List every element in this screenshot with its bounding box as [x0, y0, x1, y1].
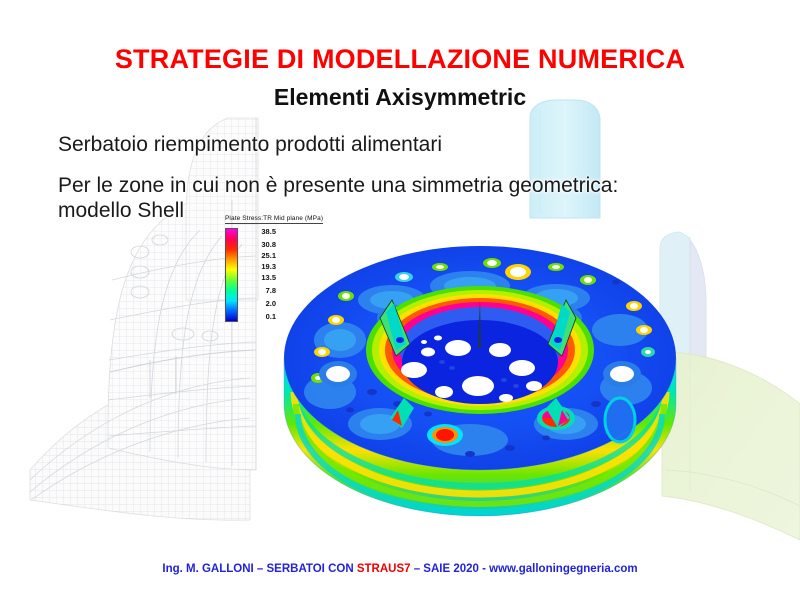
legend-tick: 0.1	[242, 313, 276, 321]
page-title: STRATEGIE DI MODELLAZIONE NUMERICA	[0, 44, 800, 75]
slide-canvas: STRATEGIE DI MODELLAZIONE NUMERICA Eleme…	[0, 0, 800, 600]
legend-tick: 38.5	[242, 228, 276, 236]
legend-title: Plate Stress:TR Mid plane (MPa)	[225, 215, 323, 224]
legend-body: 38.5 30.8 25.1 19.3 13.5 7.8 2.0 0.1	[225, 228, 365, 327]
stress-legend: Plate Stress:TR Mid plane (MPa) 38.5 30.…	[225, 207, 365, 327]
legend-tick: 7.8	[242, 287, 276, 295]
body-line-1: Serbatoio riempimento prodotti alimentar…	[58, 133, 442, 157]
body-line-2: Per le zone in cui non è presente una si…	[58, 174, 618, 198]
page-subtitle: Elementi Axisymmetric	[0, 84, 800, 111]
legend-tick: 2.0	[242, 300, 276, 308]
legend-tick: 13.5	[242, 274, 276, 282]
inner-hub-bowl	[366, 286, 594, 428]
legend-color-bar	[225, 228, 238, 322]
legend-tick: 19.3	[242, 263, 276, 271]
body-line-3: modello Shell	[58, 199, 184, 223]
footer-prefix: Ing. M. GALLONI – SERBATOI CON	[162, 563, 356, 575]
footer-suffix: – SAIE 2020 - www.galloningegneria.com	[411, 563, 638, 575]
top-nozzle-shape	[530, 100, 600, 218]
right-translucent-shapes	[660, 232, 800, 540]
slide-footer: Ing. M. GALLONI – SERBATOI CON STRAUS7 –…	[0, 563, 800, 575]
legend-tick: 30.8	[242, 241, 276, 249]
legend-tick-list: 38.5 30.8 25.1 19.3 13.5 7.8 2.0 0.1	[242, 228, 282, 327]
footer-highlight: STRAUS7	[357, 563, 411, 575]
legend-tick: 25.1	[242, 252, 276, 260]
